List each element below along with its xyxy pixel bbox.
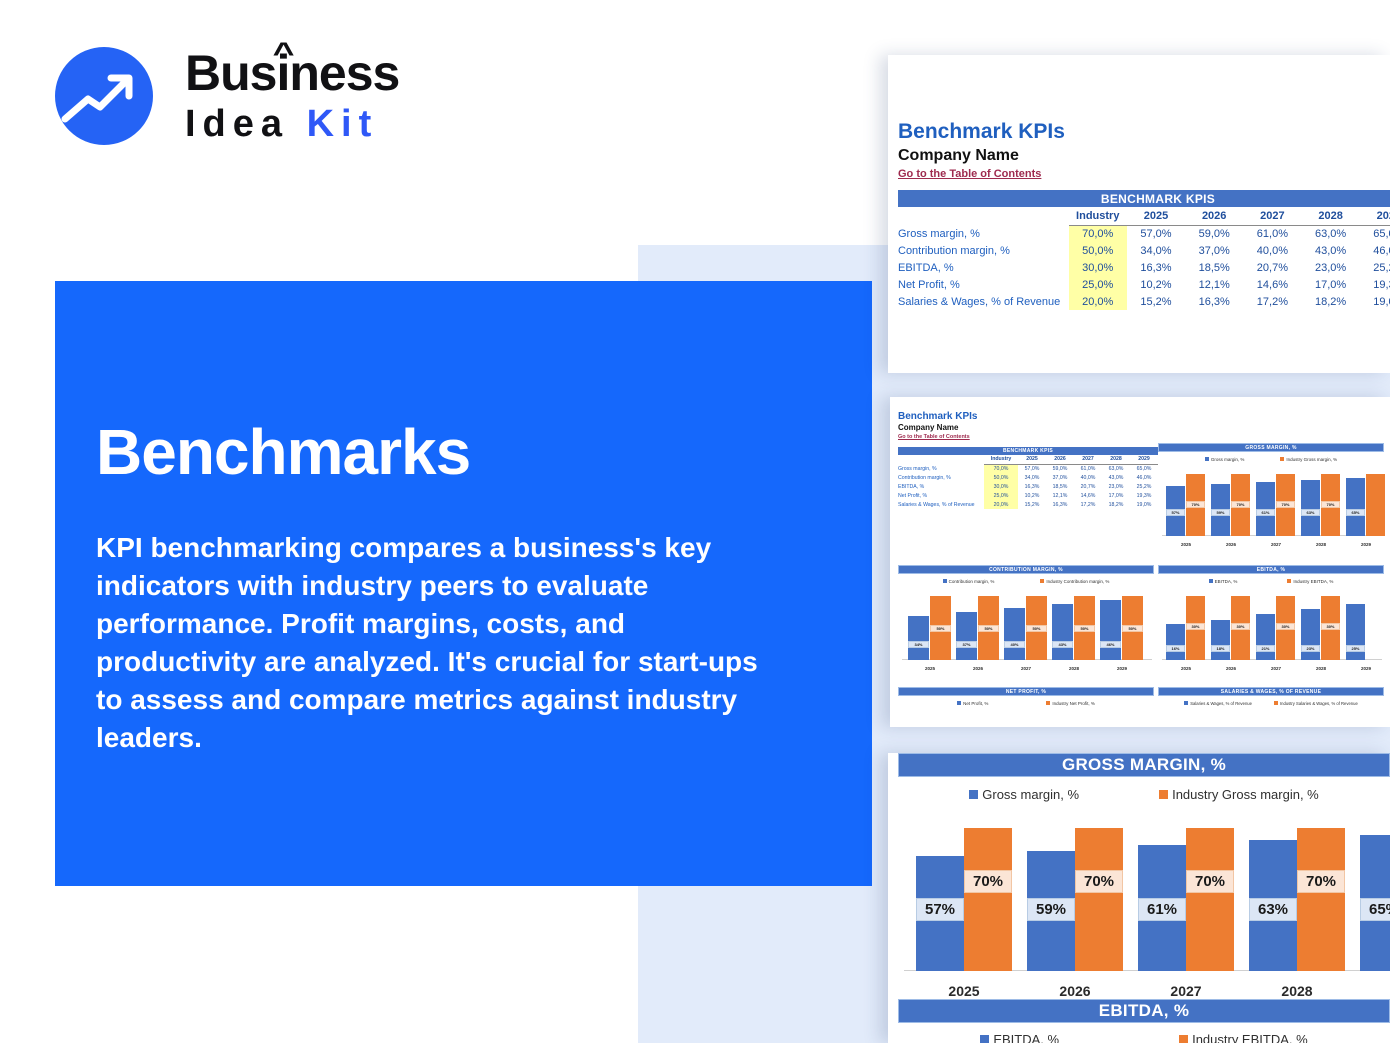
table-band-title: BENCHMARK KPIS — [898, 447, 1158, 455]
legend-swatch-orange — [1280, 457, 1284, 461]
x-tick-label: 2029 — [1346, 666, 1386, 671]
bar-group: 61% 70% 2027 — [1256, 466, 1296, 548]
legend-item-industry: Industry Contribution margin, % — [1040, 579, 1109, 584]
bar-series — [1211, 620, 1230, 660]
table-header-row: Industry 2025 2026 2027 2028 2029 — [898, 207, 1390, 225]
cell-2029: 19,3% — [1130, 491, 1158, 500]
cell-2025: 10,2% — [1018, 491, 1046, 500]
bar-label: 61% — [1138, 898, 1186, 921]
bar-label: 23% — [1301, 645, 1320, 652]
bar-group: 43% 50% 2028 — [1052, 588, 1096, 672]
bar-label: 18% — [1211, 645, 1230, 652]
chart-legend: Salaries & Wages, % of Revenue Industry … — [1158, 698, 1384, 708]
bar-series — [1346, 478, 1365, 536]
chart-plot-area: 57% 70% 2025 59% 70% 2026 61% 70% 2027 — [1158, 466, 1384, 548]
cell-industry: 50,0% — [1069, 242, 1127, 259]
legend-item-series: Gross margin, % — [1205, 457, 1245, 462]
bar-series — [1100, 600, 1121, 660]
bar-label: 70% — [1186, 501, 1205, 508]
cell-2028: 18,2% — [1302, 293, 1360, 310]
col-2027: 2027 — [1074, 455, 1102, 464]
brand-kit: Kit — [307, 103, 379, 145]
cell-2029: 19,3% — [1360, 276, 1390, 293]
bar-label: 65% — [1360, 898, 1390, 921]
table-row: Salaries & Wages, % of Revenue 20,0% 15,… — [898, 293, 1390, 310]
spreadsheet-preview-middle[interactable]: Benchmark KPIs Company Name Go to the Ta… — [890, 397, 1390, 727]
cell-2026: 59,0% — [1185, 225, 1243, 242]
bar-group: 37% 50% 2026 — [956, 588, 1000, 672]
bar-group: 61% 70% 2027 — [1136, 811, 1236, 1003]
chart-title: GROSS MARGIN, % — [1158, 443, 1384, 452]
brand-name-line2: Idea Kit — [185, 101, 399, 147]
bar-label: 61% — [1256, 509, 1275, 516]
bar-label: 50% — [930, 625, 951, 632]
legend-item-industry: Industry Net Profit, % — [1046, 701, 1095, 706]
x-tick-label: 2026 — [956, 666, 1000, 671]
col-2025: 2025 — [1127, 207, 1185, 225]
sheet-title: Benchmark KPIs — [898, 411, 977, 423]
row-label: Salaries & Wages, % of Revenue — [898, 293, 1069, 310]
bar-label: 50% — [1026, 625, 1047, 632]
chart-legend: EBITDA, % Industry EBITDA, % — [1158, 576, 1384, 586]
bar-group: 59% 70% 2026 — [1025, 811, 1125, 1003]
cell-2025: 16,3% — [1127, 259, 1185, 276]
page-title: Benchmarks — [96, 417, 470, 487]
bar-label: 70% — [1231, 501, 1250, 508]
cell-2029: 25,2% — [1360, 259, 1390, 276]
col-2028: 2028 — [1302, 207, 1360, 225]
cell-industry: 25,0% — [1069, 276, 1127, 293]
bar-label: 30% — [1321, 623, 1340, 630]
brand-logo: Business Idea Kit — [55, 45, 455, 160]
row-label: Net Profit, % — [898, 276, 1069, 293]
legend-label: Industry Salaries & Wages, % of Revenue — [1280, 701, 1358, 706]
bar-group: 59% 70% 2026 — [1211, 466, 1251, 548]
table-row: Contribution margin, % 50,0% 34,0% 37,0%… — [898, 242, 1390, 259]
x-tick-label: 2026 — [1211, 542, 1251, 547]
x-tick-label: 2028 — [1301, 666, 1341, 671]
cell-2028: 17,0% — [1302, 276, 1360, 293]
cell-2027: 40,0% — [1074, 473, 1102, 482]
sheet-subtitle: Company Name — [898, 423, 977, 433]
legend-label: Gross margin, % — [982, 787, 1079, 802]
cell-2026: 37,0% — [1185, 242, 1243, 259]
x-tick-label: 2029 — [1100, 666, 1144, 671]
table-row: Salaries & Wages, % of Revenue 20,0% 15,… — [898, 500, 1158, 509]
legend-item-series: EBITDA, % — [1209, 579, 1238, 584]
cell-2029: 46,0% — [1360, 242, 1390, 259]
bar-label: 43% — [1052, 641, 1073, 648]
row-label: Gross margin, % — [898, 464, 984, 473]
bar-group: 21% 30% 2027 — [1256, 588, 1296, 672]
cell-industry: 50,0% — [984, 473, 1018, 482]
cell-2026: 16,3% — [1185, 293, 1243, 310]
legend-label: Gross margin, % — [1211, 457, 1245, 462]
bar-label: 21% — [1256, 645, 1275, 652]
legend-swatch-blue — [1205, 457, 1209, 461]
bar-industry — [1075, 828, 1123, 971]
bar-series — [1166, 624, 1185, 660]
x-tick-label: 2027 — [1256, 542, 1296, 547]
chart-salaries-wages-mini[interactable]: SALARIES & WAGES, % OF REVENUE Salaries … — [1158, 687, 1384, 708]
chart-title: SALARIES & WAGES, % OF REVENUE — [1158, 687, 1384, 696]
bar-label: 70% — [964, 870, 1012, 893]
col-2026: 2026 — [1046, 455, 1074, 464]
chart-legend: Contribution margin, % Industry Contribu… — [898, 576, 1154, 586]
chart-plot-area: 16% 30% 2025 18% 30% 2026 21% 30% 2027 — [1158, 588, 1384, 672]
bar-group: 34% 50% 2025 — [908, 588, 952, 672]
bar-label: 46% — [1100, 641, 1121, 648]
chart-plot-area: 57% 70% 2025 59% 70% 2026 61% 70% 2027 — [898, 811, 1390, 1003]
legend-label: Contribution margin, % — [949, 579, 995, 584]
chart-contribution-margin-mini[interactable]: CONTRIBUTION MARGIN, % Contribution marg… — [898, 565, 1154, 687]
bar-label: 63% — [1301, 509, 1320, 516]
cell-industry: 20,0% — [1069, 293, 1127, 310]
chart-ebitda-large[interactable]: EBITDA, % EBITDA, % Industry EBITDA, % — [898, 999, 1390, 1043]
table-row: Gross margin, % 70,0% 57,0% 59,0% 61,0% … — [898, 464, 1158, 473]
legend-swatch-blue — [1184, 701, 1188, 705]
table-header-row: Industry 2025 2026 2027 2028 2029 — [898, 455, 1158, 464]
hero-block: Benchmarks KPI benchmarking compares a b… — [55, 281, 872, 886]
brand-pre: Bus — [185, 45, 276, 101]
cell-2029: 46,0% — [1130, 473, 1158, 482]
cell-2027: 14,6% — [1074, 491, 1102, 500]
bar-label: 70% — [1276, 501, 1295, 508]
table-band-title: BENCHMARK KPIS — [898, 190, 1390, 207]
hero-description: KPI benchmarking compares a business's k… — [96, 529, 776, 757]
x-tick-label: 2028 — [1301, 542, 1341, 547]
legend-swatch-orange — [1287, 579, 1291, 583]
cell-2026: 12,1% — [1185, 276, 1243, 293]
legend-label: Industry Net Profit, % — [1052, 701, 1095, 706]
chart-title: EBITDA, % — [1158, 565, 1384, 574]
bar-group: 25% 2029 — [1346, 588, 1386, 672]
cell-industry: 70,0% — [984, 464, 1018, 473]
bar-label: 34% — [908, 641, 929, 648]
bar-series — [1004, 608, 1025, 660]
row-label: Salaries & Wages, % of Revenue — [898, 500, 984, 509]
cell-2028: 63,0% — [1102, 464, 1130, 473]
brand-idea: Idea — [185, 103, 289, 145]
legend-swatch-orange — [1040, 579, 1044, 583]
bar-group: 65% 2029 — [1346, 466, 1386, 548]
legend-label: Salaries & Wages, % of Revenue — [1190, 701, 1252, 706]
cell-2027: 17,2% — [1243, 293, 1301, 310]
legend-item-industry: Industry EBITDA, % — [1287, 579, 1333, 584]
x-tick-label: 2028 — [1247, 983, 1347, 999]
cell-2027: 61,0% — [1074, 464, 1102, 473]
x-tick-label: 2028 — [1052, 666, 1096, 671]
legend-label: Industry Contribution margin, % — [1046, 579, 1109, 584]
table-of-contents-link[interactable]: Go to the Table of Contents — [898, 167, 1065, 181]
cell-2027: 20,7% — [1243, 259, 1301, 276]
cell-2028: 63,0% — [1302, 225, 1360, 242]
chart-ebitda-mini[interactable]: EBITDA, % EBITDA, % Industry EBITDA, % 1… — [1158, 565, 1384, 687]
cell-2027: 61,0% — [1243, 225, 1301, 242]
bar-series — [1256, 614, 1275, 660]
bar-label: 57% — [1166, 509, 1185, 516]
x-tick-label: 2029 — [1358, 983, 1390, 999]
benchmark-kpis-table: BENCHMARK KPIS Industry 2025 2026 2027 2… — [898, 190, 1390, 310]
bar-group: 16% 30% 2025 — [1166, 588, 1206, 672]
sheet-subtitle: Company Name — [898, 146, 1065, 165]
bar-label: 70% — [1075, 870, 1123, 893]
bar-group: 46% 50% 2029 — [1100, 588, 1144, 672]
bar-industry — [1297, 828, 1345, 971]
cell-2025: 34,0% — [1018, 473, 1046, 482]
legend-swatch-orange — [1046, 701, 1050, 705]
chart-legend: Gross margin, % Industry Gross margin, % — [1158, 454, 1384, 464]
benchmark-kpis-table-mini: BENCHMARK KPIS Industry 2025 2026 2027 2… — [898, 447, 1158, 509]
cell-2029: 65,0% — [1130, 464, 1158, 473]
bar-group: 63% 70% 2028 — [1301, 466, 1341, 548]
chart-title: GROSS MARGIN, % — [898, 753, 1390, 777]
bar-label: 25% — [1346, 645, 1365, 652]
legend-item-industry: Industry Gross margin, % — [1159, 787, 1319, 802]
col-2029: 2029 — [1130, 455, 1158, 464]
bar-label: 40% — [1004, 641, 1025, 648]
legend-swatch-blue — [980, 1035, 989, 1043]
row-label: Gross margin, % — [898, 225, 1069, 242]
table-band-row: BENCHMARK KPIS — [898, 447, 1158, 455]
bar-group: 63% 70% 2028 — [1247, 811, 1347, 1003]
legend-swatch-blue — [943, 579, 947, 583]
cell-industry: 30,0% — [1069, 259, 1127, 276]
cell-2025: 34,0% — [1127, 242, 1185, 259]
slide-canvas: Business Idea Kit Benchmarks KPI benchma… — [0, 0, 1390, 1043]
cell-2026: 18,5% — [1185, 259, 1243, 276]
chart-plot-area: 34% 50% 2025 37% 50% 2026 40% 50% 2027 — [898, 588, 1154, 672]
col-2028: 2028 — [1102, 455, 1130, 464]
trend-arrow-icon — [55, 47, 153, 145]
bar-label: 50% — [1122, 625, 1143, 632]
table-row: EBITDA, % 30,0% 16,3% 18,5% 20,7% 23,0% … — [898, 482, 1158, 491]
legend-item-series: Gross margin, % — [969, 787, 1079, 802]
legend-label: EBITDA, % — [993, 1032, 1059, 1043]
cell-2026: 16,3% — [1046, 500, 1074, 509]
table-row: Net Profit, % 25,0% 10,2% 12,1% 14,6% 17… — [898, 276, 1390, 293]
x-tick-label: 2027 — [1256, 666, 1296, 671]
row-label: Contribution margin, % — [898, 473, 984, 482]
bar-series — [1301, 609, 1320, 660]
bar-industry — [964, 828, 1012, 971]
legend-swatch-orange — [1159, 790, 1168, 799]
cell-2027: 20,7% — [1074, 482, 1102, 491]
chart-title: EBITDA, % — [898, 999, 1390, 1023]
cell-2025: 57,0% — [1127, 225, 1185, 242]
row-label: EBITDA, % — [898, 259, 1069, 276]
legend-label: EBITDA, % — [1215, 579, 1238, 584]
bar-label: 59% — [1027, 898, 1075, 921]
col-2027: 2027 — [1243, 207, 1301, 225]
bar-series — [956, 612, 977, 660]
cell-2029: 19,0% — [1130, 500, 1158, 509]
legend-item-industry: Industry Gross margin, % — [1280, 457, 1337, 462]
cell-2028: 17,0% — [1102, 491, 1130, 500]
x-tick-label: 2027 — [1004, 666, 1048, 671]
legend-item-series: EBITDA, % — [980, 1032, 1059, 1043]
col-2025: 2025 — [1018, 455, 1046, 464]
cell-2026: 12,1% — [1046, 491, 1074, 500]
chart-legend: EBITDA, % Industry EBITDA, % — [898, 1027, 1390, 1043]
cell-industry: 30,0% — [984, 482, 1018, 491]
legend-label: Industry EBITDA, % — [1192, 1032, 1308, 1043]
x-tick-label: 2027 — [1136, 983, 1236, 999]
legend-swatch-blue — [1209, 579, 1213, 583]
cell-2027: 14,6% — [1243, 276, 1301, 293]
cell-2026: 37,0% — [1046, 473, 1074, 482]
brand-name-line1: Business — [185, 45, 399, 101]
chart-gross-margin-mini[interactable]: GROSS MARGIN, % Gross margin, % Industry… — [1158, 443, 1384, 563]
col-industry: Industry — [1069, 207, 1127, 225]
legend-item-series: Salaries & Wages, % of Revenue — [1184, 701, 1252, 706]
chart-net-profit-mini[interactable]: NET PROFIT, % Net Profit, % Industry Net… — [898, 687, 1154, 708]
cell-2026: 59,0% — [1046, 464, 1074, 473]
legend-swatch-orange — [1179, 1035, 1188, 1043]
table-row: Contribution margin, % 50,0% 34,0% 37,0%… — [898, 473, 1158, 482]
bar-series — [1301, 480, 1320, 536]
bar-label: 59% — [1211, 509, 1230, 516]
legend-item-series: Net Profit, % — [957, 701, 988, 706]
cell-2028: 18,2% — [1102, 500, 1130, 509]
legend-label: Net Profit, % — [963, 701, 988, 706]
cell-2028: 43,0% — [1102, 473, 1130, 482]
cell-2027: 17,2% — [1074, 500, 1102, 509]
legend-item-industry: Industry EBITDA, % — [1179, 1032, 1308, 1043]
spreadsheet-preview-bottom[interactable]: GROSS MARGIN, % Gross margin, % Industry… — [888, 753, 1390, 1043]
sheet-title: Benchmark KPIs — [898, 120, 1065, 144]
bar-label: 50% — [1074, 625, 1095, 632]
bar-label: 70% — [1297, 870, 1345, 893]
col-2026: 2026 — [1185, 207, 1243, 225]
x-tick-label: 2029 — [1346, 542, 1386, 547]
bar-label: 63% — [1249, 898, 1297, 921]
brand-i-circumflex: i — [276, 45, 289, 101]
table-row: Gross margin, % 70,0% 57,0% 59,0% 61,0% … — [898, 225, 1390, 242]
legend-swatch-blue — [957, 701, 961, 705]
bar-group: 18% 30% 2026 — [1211, 588, 1251, 672]
cell-2025: 15,2% — [1127, 293, 1185, 310]
brand-post: ness — [289, 45, 399, 101]
cell-2027: 40,0% — [1243, 242, 1301, 259]
cell-2029: 25,2% — [1130, 482, 1158, 491]
legend-label: Industry Gross margin, % — [1172, 787, 1319, 802]
table-row: Net Profit, % 25,0% 10,2% 12,1% 14,6% 17… — [898, 491, 1158, 500]
cell-2028: 23,0% — [1102, 482, 1130, 491]
table-row: EBITDA, % 30,0% 16,3% 18,5% 20,7% 23,0% … — [898, 259, 1390, 276]
bar-group: 57% 70% 2025 — [1166, 466, 1206, 548]
x-tick-label: 2025 — [914, 983, 1014, 999]
legend-item-series: Contribution margin, % — [943, 579, 995, 584]
cell-2025: 15,2% — [1018, 500, 1046, 509]
cell-2028: 43,0% — [1302, 242, 1360, 259]
bar-label: 37% — [956, 641, 977, 648]
legend-label: Industry EBITDA, % — [1293, 579, 1333, 584]
bar-label: 16% — [1166, 645, 1185, 652]
bar-series — [908, 616, 929, 660]
bar-label: 30% — [1276, 623, 1295, 630]
cell-2025: 16,3% — [1018, 482, 1046, 491]
col-2029: 2029 — [1360, 207, 1390, 225]
bar-group: 23% 30% 2028 — [1301, 588, 1341, 672]
bar-label: 70% — [1186, 870, 1234, 893]
x-tick-label: 2026 — [1025, 983, 1125, 999]
cell-2025: 57,0% — [1018, 464, 1046, 473]
bar-group: 40% 50% 2027 — [1004, 588, 1048, 672]
bar-industry — [1186, 828, 1234, 971]
legend-swatch-orange — [1274, 701, 1278, 705]
bar-series — [1052, 604, 1073, 660]
bar-label: 70% — [1321, 501, 1340, 508]
row-label: Net Profit, % — [898, 491, 984, 500]
x-tick-label: 2025 — [908, 666, 952, 671]
x-tick-label: 2025 — [1166, 666, 1206, 671]
bar-label: 65% — [1346, 509, 1365, 516]
cell-2026: 18,5% — [1046, 482, 1074, 491]
legend-item-industry: Industry Salaries & Wages, % of Revenue — [1274, 701, 1358, 706]
cell-industry: 25,0% — [984, 491, 1018, 500]
bar-label: 57% — [916, 898, 964, 921]
bar-industry — [1366, 474, 1385, 536]
bar-group: 65% 2029 — [1358, 811, 1390, 1003]
cell-2028: 23,0% — [1302, 259, 1360, 276]
bar-group: 57% 70% 2025 — [914, 811, 1014, 1003]
chart-title: NET PROFIT, % — [898, 687, 1154, 696]
spreadsheet-preview-top[interactable]: Benchmark KPIs Company Name Go to the Ta… — [888, 55, 1390, 373]
row-label: EBITDA, % — [898, 482, 984, 491]
x-tick-label: 2025 — [1166, 542, 1206, 547]
legend-label: Industry Gross margin, % — [1286, 457, 1337, 462]
table-of-contents-link[interactable]: Go to the Table of Contents — [898, 433, 977, 441]
chart-legend: Gross margin, % Industry Gross margin, % — [898, 781, 1390, 807]
row-label: Contribution margin, % — [898, 242, 1069, 259]
table-band-row: BENCHMARK KPIS — [898, 190, 1390, 207]
chart-legend: Net Profit, % Industry Net Profit, % — [898, 698, 1154, 708]
cell-2029: 65,0% — [1360, 225, 1390, 242]
bar-label: 30% — [1231, 623, 1250, 630]
cell-2029: 19,0% — [1360, 293, 1390, 310]
bar-label: 30% — [1186, 623, 1205, 630]
cell-industry: 70,0% — [1069, 225, 1127, 242]
chart-gross-margin-large[interactable]: GROSS MARGIN, % Gross margin, % Industry… — [898, 753, 1390, 1003]
cell-industry: 20,0% — [984, 500, 1018, 509]
bar-label: 50% — [978, 625, 999, 632]
legend-swatch-blue — [969, 790, 978, 799]
col-industry: Industry — [984, 455, 1018, 464]
cell-2025: 10,2% — [1127, 276, 1185, 293]
chart-title: CONTRIBUTION MARGIN, % — [898, 565, 1154, 574]
x-tick-label: 2026 — [1211, 666, 1251, 671]
